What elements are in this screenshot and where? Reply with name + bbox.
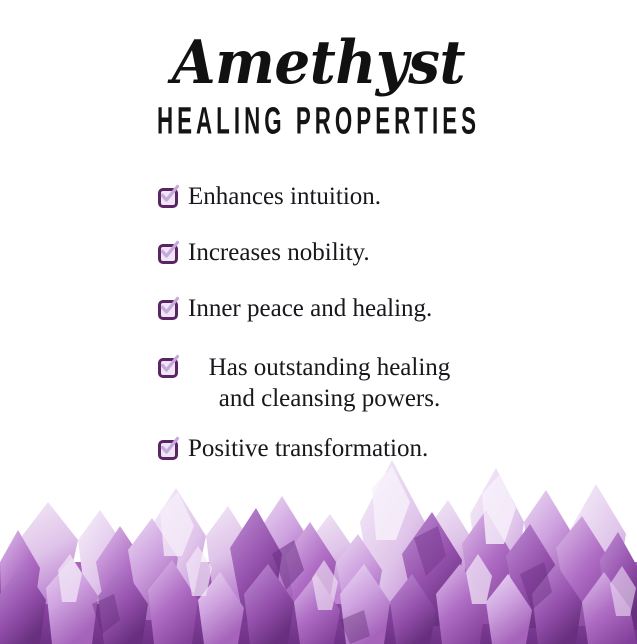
amethyst-crystal-cluster-image	[0, 444, 637, 644]
checkbox-checked-icon[interactable]	[158, 298, 178, 318]
list-item: Increases nobility.	[0, 238, 637, 268]
list-item-label-line2: and cleansing powers.	[152, 383, 507, 414]
list-item-label: Inner peace and healing.	[0, 294, 637, 324]
healing-properties-list: Enhances intuition. Increases nobility.	[0, 182, 637, 464]
crystal-cluster-graphic	[0, 444, 637, 644]
checkbox-cell	[158, 186, 182, 210]
checkbox-cell	[158, 298, 182, 322]
list-item: Enhances intuition.	[0, 182, 637, 212]
checkbox-checked-icon[interactable]	[158, 186, 178, 206]
page-title: Amethyst	[19, 30, 618, 96]
check-mark-icon	[160, 356, 180, 376]
amethyst-healing-properties-poster: Amethyst HEALING PROPERTIES Enhances int…	[0, 0, 637, 644]
check-mark-icon	[160, 186, 180, 206]
list-item-label: Has outstanding healing and cleansing po…	[0, 352, 637, 414]
title-block: Amethyst HEALING PROPERTIES	[0, 30, 637, 140]
list-item-label: Increases nobility.	[0, 238, 637, 268]
checkbox-checked-icon[interactable]	[158, 356, 178, 376]
list-item-label: Enhances intuition.	[0, 182, 637, 212]
list-item: Inner peace and healing.	[0, 294, 637, 324]
checkbox-cell	[158, 242, 182, 266]
checkbox-checked-icon[interactable]	[158, 242, 178, 262]
page-subtitle: HEALING PROPERTIES	[121, 101, 516, 141]
check-mark-icon	[160, 298, 180, 318]
checkbox-cell	[158, 356, 182, 380]
check-mark-icon	[160, 242, 180, 262]
list-item-label-line1: Has outstanding healing	[209, 354, 451, 381]
list-item: Has outstanding healing and cleansing po…	[0, 352, 637, 414]
